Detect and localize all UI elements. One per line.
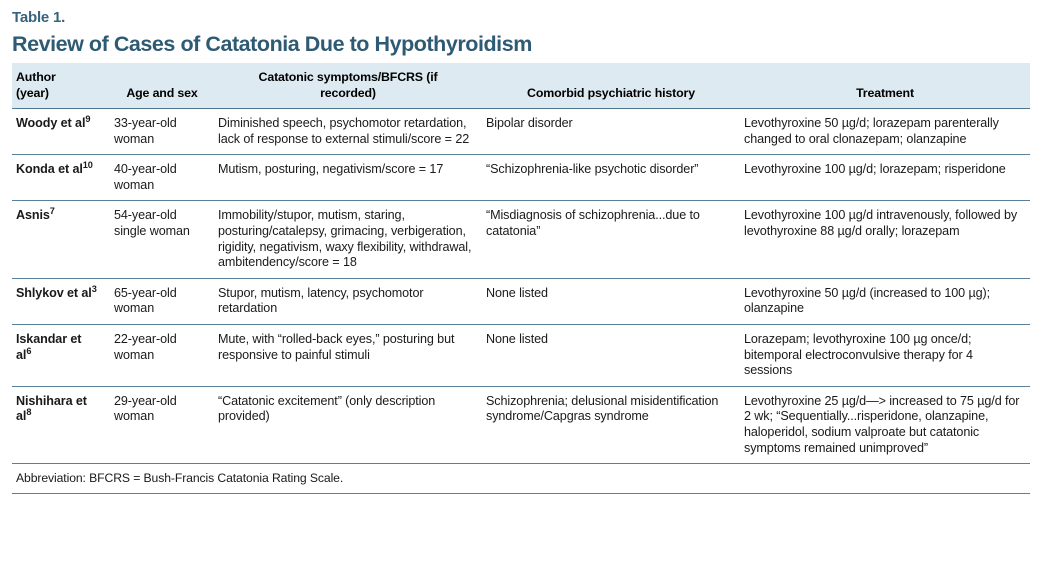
cell-author: Shlykov et al3 xyxy=(12,278,110,324)
cell-author: Asnis7 xyxy=(12,201,110,278)
table-header-row: Author (year) Age and sex Catatonic symp… xyxy=(12,63,1030,109)
cell-age-and-sex: 54-year-old single woman xyxy=(110,201,214,278)
column-header-author: Author (year) xyxy=(12,63,110,109)
cell-symptoms: Stupor, mutism, latency, psychomotor ret… xyxy=(214,278,482,324)
column-header-symptoms-line1: Catatonic symptoms/BFCRS (if xyxy=(220,70,476,86)
cell-comorbid-history: “Schizophrenia-like psychotic disorder” xyxy=(482,155,740,201)
author-reference: 7 xyxy=(50,206,55,216)
author-name: Woody et al xyxy=(16,116,85,130)
cell-treatment: Levothyroxine 50 µg/d (increased to 100 … xyxy=(740,278,1030,324)
cell-symptoms: Diminished speech, psychomotor retardati… xyxy=(214,109,482,155)
cell-treatment: Levothyroxine 100 µg/d intravenously, fo… xyxy=(740,201,1030,278)
cell-comorbid-history: Bipolar disorder xyxy=(482,109,740,155)
cell-author: Iskandar et al6 xyxy=(12,324,110,386)
cell-symptoms: “Catatonic excitement” (only description… xyxy=(214,386,482,463)
table-row: Iskandar et al6 22-year-old woman Mute, … xyxy=(12,324,1030,386)
cell-symptoms: Mute, with “rolled-back eyes,” posturing… xyxy=(214,324,482,386)
author-name: Asnis xyxy=(16,208,50,222)
column-header-comorbid: Comorbid psychiatric history xyxy=(482,63,740,109)
column-header-symptoms: Catatonic symptoms/BFCRS (if recorded) xyxy=(214,63,482,109)
cell-symptoms: Mutism, posturing, negativism/score = 17 xyxy=(214,155,482,201)
cell-age-and-sex: 40-year-old woman xyxy=(110,155,214,201)
table-row: Asnis7 54-year-old single woman Immobili… xyxy=(12,201,1030,278)
table-row: Nishihara et al8 29-year-old woman “Cata… xyxy=(12,386,1030,463)
column-header-author-line1: Author xyxy=(16,70,104,86)
footnote-container: Abbreviation: BFCRS = Bush-Francis Catat… xyxy=(12,463,1030,494)
author-reference: 6 xyxy=(26,345,31,355)
table-row: Konda et al10 40-year-old woman Mutism, … xyxy=(12,155,1030,201)
table-footnote: Abbreviation: BFCRS = Bush-Francis Catat… xyxy=(12,464,1030,493)
cell-age-and-sex: 22-year-old woman xyxy=(110,324,214,386)
cell-age-and-sex: 33-year-old woman xyxy=(110,109,214,155)
column-header-author-line2: (year) xyxy=(16,86,104,102)
table-figure: Table 1. Review of Cases of Catatonia Du… xyxy=(0,0,1042,576)
author-reference: 3 xyxy=(92,284,97,294)
column-header-treatment-line2: Treatment xyxy=(746,86,1024,102)
cell-treatment: Levothyroxine 100 µg/d; lorazepam; rispe… xyxy=(740,155,1030,201)
table-label: Table 1. xyxy=(12,0,1030,27)
cell-treatment: Levothyroxine 25 µg/d—> increased to 75 … xyxy=(740,386,1030,463)
cell-author: Woody et al9 xyxy=(12,109,110,155)
author-name: Shlykov et al xyxy=(16,286,92,300)
cell-author: Konda et al10 xyxy=(12,155,110,201)
author-name: Konda et al xyxy=(16,162,83,176)
cell-age-and-sex: 65-year-old woman xyxy=(110,278,214,324)
cell-symptoms: Immobility/stupor, mutism, staring, post… xyxy=(214,201,482,278)
column-header-treatment: Treatment xyxy=(740,63,1030,109)
cell-comorbid-history: “Misdiagnosis of schizophrenia...due to … xyxy=(482,201,740,278)
cell-age-and-sex: 29-year-old woman xyxy=(110,386,214,463)
column-header-age-line2: Age and sex xyxy=(116,86,208,102)
column-header-symptoms-line2: recorded) xyxy=(220,86,476,102)
cell-comorbid-history: None listed xyxy=(482,324,740,386)
cases-table: Author (year) Age and sex Catatonic symp… xyxy=(12,63,1030,463)
table-title: Review of Cases of Catatonia Due to Hypo… xyxy=(12,27,1030,63)
cell-treatment: Levothyroxine 50 µg/d; lorazepam parente… xyxy=(740,109,1030,155)
cell-comorbid-history: Schizophrenia; delusional misidentificat… xyxy=(482,386,740,463)
column-header-comorbid-line2: Comorbid psychiatric history xyxy=(488,86,734,102)
table-row: Woody et al9 33-year-old woman Diminishe… xyxy=(12,109,1030,155)
table-row: Shlykov et al3 65-year-old woman Stupor,… xyxy=(12,278,1030,324)
cell-comorbid-history: None listed xyxy=(482,278,740,324)
author-reference: 9 xyxy=(85,114,90,124)
cell-author: Nishihara et al8 xyxy=(12,386,110,463)
author-reference: 10 xyxy=(83,160,93,170)
table-body: Woody et al9 33-year-old woman Diminishe… xyxy=(12,109,1030,464)
author-reference: 8 xyxy=(26,407,31,417)
table-header: Author (year) Age and sex Catatonic symp… xyxy=(12,63,1030,109)
column-header-age: Age and sex xyxy=(110,63,214,109)
cell-treatment: Lorazepam; levothyroxine 100 µg once/d; … xyxy=(740,324,1030,386)
